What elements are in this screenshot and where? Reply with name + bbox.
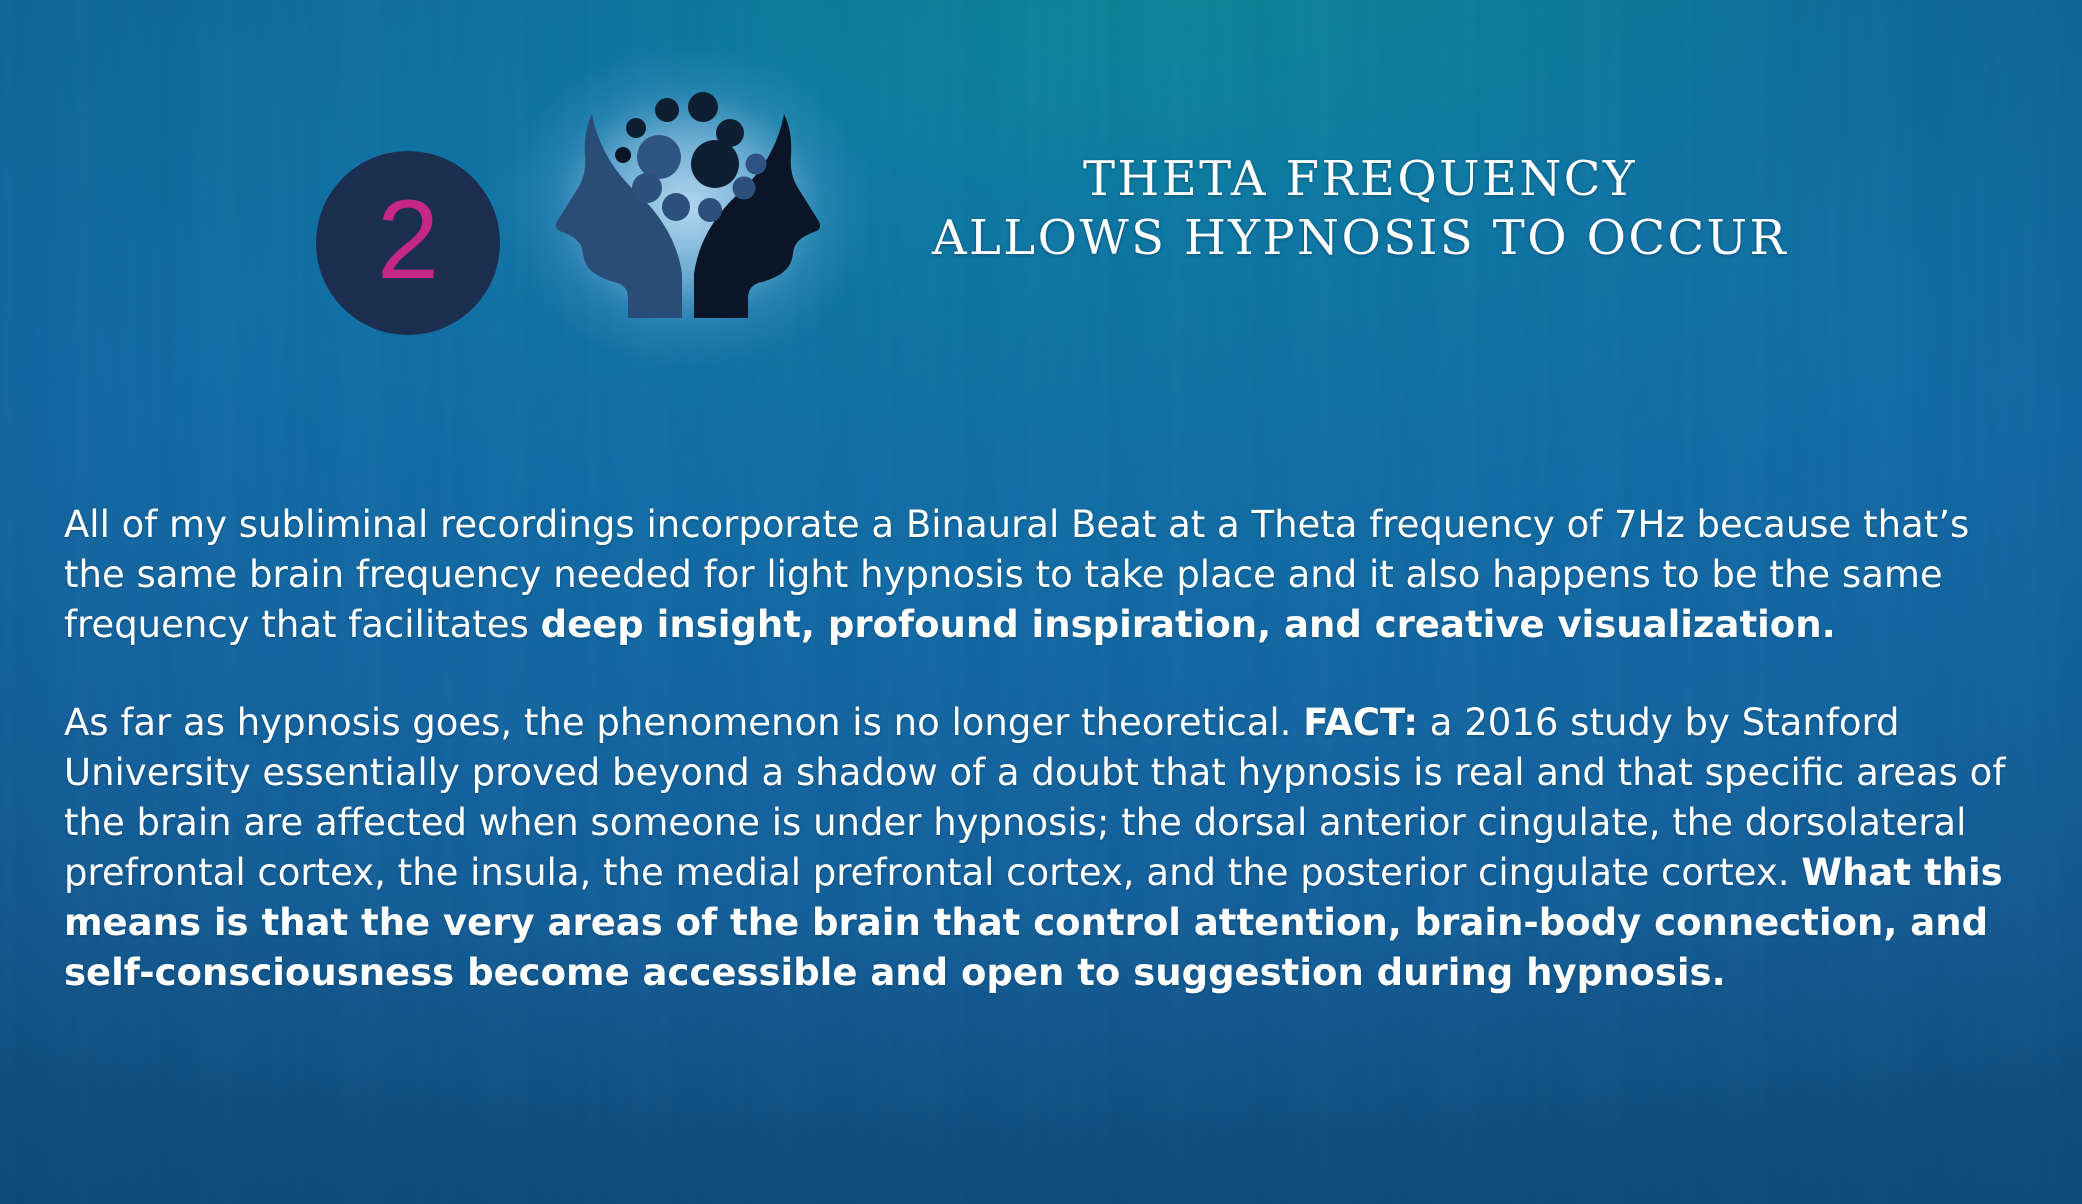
- emphasis-run: deep insight, profound inspiration, and …: [541, 603, 1836, 646]
- step-number-badge: 2: [316, 151, 500, 335]
- text-run: As far as hypnosis goes, the phenomenon …: [64, 701, 1303, 744]
- slide-header: 2: [0, 0, 2082, 330]
- two-heads-brain-icon: [528, 62, 848, 342]
- slide-canvas: 2: [0, 0, 2082, 1204]
- two-heads-brain-icon-graphic: [528, 62, 848, 342]
- title-line-1: THETA FREQUENCY: [860, 150, 1860, 209]
- step-number-text: 2: [377, 184, 439, 296]
- paragraph-2: As far as hypnosis goes, the phenomenon …: [64, 698, 2019, 998]
- slide-body-text: All of my subliminal recordings incorpor…: [64, 500, 2019, 998]
- slide-title: THETA FREQUENCY ALLOWS HYPNOSIS TO OCCUR: [860, 150, 1860, 267]
- paragraph-1: All of my subliminal recordings incorpor…: [64, 500, 2019, 650]
- title-line-2: ALLOWS HYPNOSIS TO OCCUR: [860, 209, 1860, 268]
- emphasis-run: FACT:: [1303, 701, 1418, 744]
